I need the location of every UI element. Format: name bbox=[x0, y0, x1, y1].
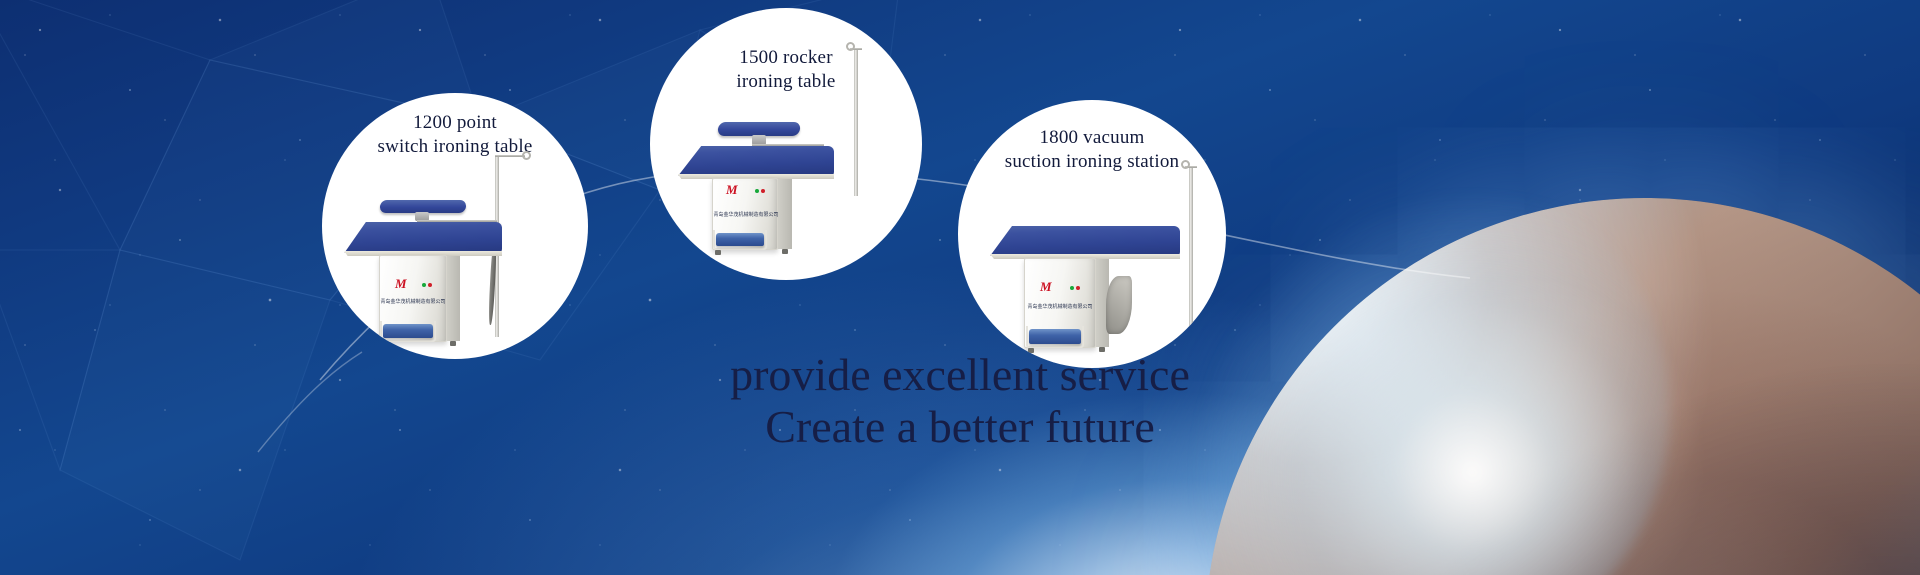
main-ironing-board-1200 bbox=[336, 222, 502, 253]
brand-logo-1500: M bbox=[726, 183, 738, 196]
vacuum-fan-housing-1800 bbox=[1106, 276, 1132, 334]
arm-hook-1800 bbox=[1181, 160, 1190, 169]
machine-illustration-1800: M 青岛金华茂机械制造有限公司 bbox=[958, 100, 1226, 368]
main-ironing-board-1500 bbox=[668, 146, 834, 176]
machine-illustration-1500: M 青岛金华茂机械制造有限公司 bbox=[650, 8, 922, 280]
promotional-banner: 1200 point switch ironing table M 青岛金华茂机… bbox=[0, 0, 1920, 575]
cabinet-foot-left-1500 bbox=[715, 250, 721, 255]
foot-pedal-1200 bbox=[383, 324, 433, 338]
indicator-led-red-1200 bbox=[428, 283, 432, 287]
arm-hook-1500 bbox=[846, 42, 855, 51]
top-pad-bracket-1500 bbox=[752, 144, 824, 146]
brand-text-1800: 青岛金华茂机械制造有限公司 bbox=[1020, 303, 1100, 310]
top-pad-bracket-1200 bbox=[417, 220, 497, 222]
brand-text-1500: 青岛金华茂机械制造有限公司 bbox=[708, 211, 784, 218]
top-ironing-pad-1500 bbox=[717, 122, 801, 136]
product-bubble-1800[interactable]: 1800 vacuum suction ironing station M 青岛… bbox=[958, 100, 1226, 368]
cabinet-foot-right-1200 bbox=[450, 341, 456, 346]
tagline-line-1: provide excellent service bbox=[0, 352, 1920, 398]
foot-pedal-1800 bbox=[1029, 329, 1081, 344]
product-bubble-1500[interactable]: 1500 rocker ironing table M 青岛金华茂机械制造有限公… bbox=[650, 8, 922, 280]
brand-text-1200: 青岛金华茂机械制造有限公司 bbox=[374, 298, 452, 305]
main-ironing-board-1800 bbox=[980, 226, 1180, 256]
indicator-led-green-1200 bbox=[422, 283, 426, 287]
indicator-led-green-1500 bbox=[755, 189, 759, 193]
indicator-led-red-1800 bbox=[1076, 286, 1080, 290]
machine-illustration-1200: M 青岛金华茂机械制造有限公司 bbox=[322, 93, 588, 359]
indicator-led-red-1500 bbox=[761, 189, 765, 193]
product-bubble-1200[interactable]: 1200 point switch ironing table M 青岛金华茂机… bbox=[322, 93, 588, 359]
support-arm-1200 bbox=[495, 155, 525, 157]
brand-logo-1800: M bbox=[1040, 280, 1052, 293]
foot-pedal-1500 bbox=[716, 233, 764, 246]
tagline-line-2: Create a better future bbox=[0, 404, 1920, 450]
support-pole-1800 bbox=[1189, 166, 1193, 328]
brand-logo-1200: M bbox=[395, 277, 407, 290]
indicator-led-green-1800 bbox=[1070, 286, 1074, 290]
arm-hook-1200 bbox=[522, 151, 531, 160]
cabinet-foot-right-1500 bbox=[782, 249, 788, 254]
support-pole-1500 bbox=[854, 48, 858, 196]
cabinet-foot-left-1200 bbox=[382, 342, 388, 347]
